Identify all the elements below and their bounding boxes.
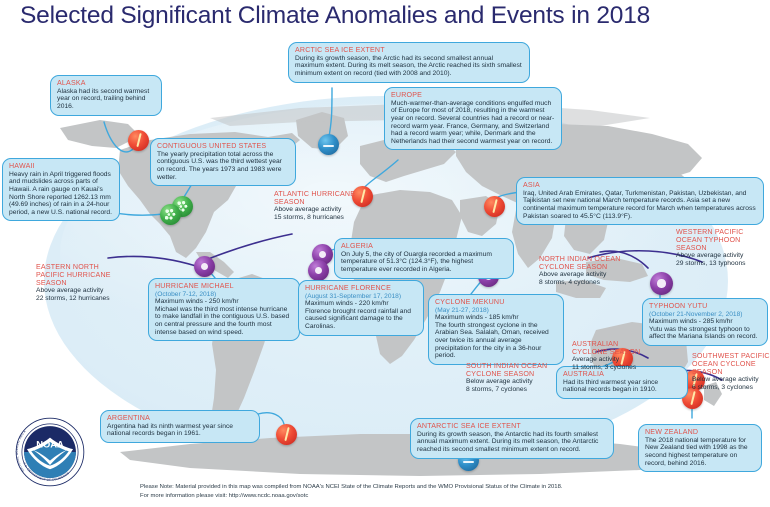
callout-contiguous-us-body: The yearly precipitation total across th… — [157, 151, 289, 182]
enp-season-activity: Above average activity — [36, 287, 128, 295]
callout-europe-body: Much-warmer-than-average conditions engu… — [391, 100, 555, 146]
callout-argentina[interactable]: ARGENTINA Argentina had its ninth warmes… — [100, 410, 260, 443]
marker-alaska-heat-icon — [128, 130, 149, 151]
swp-season-heading: SOUTHWEST PACIFIC OCEAN CYCLONE SEASON — [692, 352, 770, 376]
callout-algeria-heading: ALGERIA — [341, 242, 507, 250]
swp-season-activity: Below average activity — [692, 376, 770, 384]
callout-argentina-body: Argentina had its ninth warmest year sin… — [107, 423, 253, 438]
callout-yutu-heading: TYPHOON YUTU — [649, 302, 761, 310]
atlantic-season-activity: Above average activity — [274, 206, 358, 214]
aus-season-counts: 11 storms, 3 cyclones — [572, 364, 648, 372]
callout-contiguous-united-states[interactable]: CONTIGUOUS UNITED STATES The yearly prec… — [150, 138, 296, 186]
callout-yutu-body: Maximum winds - 285 km/hr Yutu was the s… — [649, 318, 761, 341]
marker-hawaii-precipitation-icon — [160, 204, 181, 225]
atlantic-season-counts: 15 storms, 8 hurricanes — [274, 214, 358, 222]
sio-season-activity: Below average activity — [466, 378, 552, 386]
label-western-pacific-ocean-typhoon-season: WESTERN PACIFIC OCEAN TYPHOON SEASON Abo… — [676, 228, 768, 268]
callout-cyclone-mekunu[interactable]: CYCLONE MEKUNU (May 21-27, 2018) Maximum… — [428, 294, 564, 365]
label-eastern-north-pacific-hurricane-season: EASTERN NORTH PACIFIC HURRICANE SEASON A… — [36, 263, 128, 303]
callout-algeria[interactable]: ALGERIA On July 5, the city of Ouargla r… — [334, 238, 514, 279]
callout-michael-date: (October 7-12, 2018) — [155, 291, 293, 299]
swp-season-counts: 6 storms, 3 cyclones — [692, 384, 770, 392]
wpo-season-activity: Above average activity — [676, 252, 768, 260]
callout-mekunu-date: (May 21-27, 2018) — [435, 307, 557, 315]
nio-season-heading: NORTH INDIAN OCEAN CYCLONE SEASON — [539, 255, 621, 271]
callout-alaska-heading: ALASKA — [57, 79, 155, 87]
enp-season-counts: 22 storms, 12 hurricanes — [36, 295, 128, 303]
callout-arctic-heading: ARCTIC SEA ICE EXTENT — [295, 46, 523, 54]
marker-hurricane-michael-icon — [194, 256, 215, 277]
callout-europe[interactable]: EUROPE Much-warmer-than-average conditio… — [384, 87, 562, 150]
callout-florence-heading: HURRICANE FLORENCE — [305, 284, 417, 292]
atlantic-season-heading: ATLANTIC HURRICANE SEASON — [274, 190, 358, 206]
footer-note: Please Note: Material provided in this m… — [140, 483, 760, 501]
callout-asia-body: Iraq, United Arab Emirates, Qatar, Turkm… — [523, 190, 757, 221]
callout-asia[interactable]: ASIA Iraq, United Arab Emirates, Qatar, … — [516, 177, 764, 225]
callout-mekunu-heading: CYCLONE MEKUNU — [435, 298, 557, 306]
callout-michael-heading: HURRICANE MICHAEL — [155, 282, 293, 290]
marker-typhoon-yutu-icon — [650, 272, 673, 295]
label-south-indian-ocean-cyclone-season: SOUTH INDIAN OCEAN CYCLONE SEASON Below … — [466, 362, 552, 394]
callout-algeria-body: On July 5, the city of Ouargla recorded … — [341, 251, 507, 274]
marker-arctic-sea-ice-icon — [318, 134, 339, 155]
footer-link[interactable]: For more information please visit: http:… — [140, 492, 760, 501]
callout-australia-body: Had its third warmest year since nationa… — [563, 379, 681, 394]
callout-new-zealand[interactable]: NEW ZEALAND The 2018 national temperatur… — [638, 424, 762, 472]
enp-season-heading: EASTERN NORTH PACIFIC HURRICANE SEASON — [36, 263, 128, 287]
callout-alaska[interactable]: ALASKA Alaska had its second warmest yea… — [50, 75, 162, 116]
callout-florence-body: Maximum winds - 220 km/hr Florence broug… — [305, 300, 417, 331]
marker-asia-heat-icon — [484, 196, 505, 217]
callout-alaska-body: Alaska had its second warmest year on re… — [57, 88, 155, 111]
callout-hawaii-body: Heavy rain in April triggered floods and… — [9, 171, 113, 217]
page-title: Selected Significant Climate Anomalies a… — [20, 2, 750, 30]
callout-contiguous-us-heading: CONTIGUOUS UNITED STATES — [157, 142, 289, 150]
callout-typhoon-yutu[interactable]: TYPHOON YUTU (October 21-November 2, 201… — [642, 298, 768, 346]
aus-season-activity: Average activity — [572, 356, 648, 364]
callout-arctic-sea-ice-extent[interactable]: ARCTIC SEA ICE EXTENT During its growth … — [288, 42, 530, 83]
callout-hurricane-michael[interactable]: HURRICANE MICHAEL (October 7-12, 2018) M… — [148, 278, 300, 341]
callout-michael-body: Maximum winds - 250 km/hr Michael was th… — [155, 298, 293, 336]
wpo-season-heading: WESTERN PACIFIC OCEAN TYPHOON SEASON — [676, 228, 768, 252]
callout-antarctic-body: During its growth season, the Antarctic … — [417, 431, 607, 454]
footer-source-note: Please Note: Material provided in this m… — [140, 483, 760, 492]
callout-antarctic-heading: ANTARCTIC SEA ICE EXTENT — [417, 422, 607, 430]
label-north-indian-ocean-cyclone-season: NORTH INDIAN OCEAN CYCLONE SEASON Above … — [539, 255, 621, 287]
nio-season-counts: 8 storms, 4 cyclones — [539, 279, 621, 287]
noaa-wordmark: NOAA — [36, 440, 64, 450]
label-atlantic-hurricane-season: ATLANTIC HURRICANE SEASON Above average … — [274, 190, 358, 222]
callout-new-zealand-heading: NEW ZEALAND — [645, 428, 755, 436]
marker-hurricane-florence-icon — [308, 260, 329, 281]
callout-yutu-date: (October 21-November 2, 2018) — [649, 311, 761, 319]
marker-argentina-heat-icon — [276, 424, 297, 445]
callout-asia-heading: ASIA — [523, 181, 757, 189]
sio-season-heading: SOUTH INDIAN OCEAN CYCLONE SEASON — [466, 362, 552, 378]
callout-antarctic-sea-ice-extent[interactable]: ANTARCTIC SEA ICE EXTENT During its grow… — [410, 418, 614, 459]
label-southwest-pacific-ocean-cyclone-season: SOUTHWEST PACIFIC OCEAN CYCLONE SEASON B… — [692, 352, 770, 392]
callout-new-zealand-body: The 2018 national temperature for New Ze… — [645, 437, 755, 468]
infographic-canvas: Selected Significant Climate Anomalies a… — [0, 0, 770, 507]
callout-europe-heading: EUROPE — [391, 91, 555, 99]
sio-season-counts: 8 storms, 7 cyclones — [466, 386, 552, 394]
noaa-logo: NOAA NATIONAL OCEANIC AND ATMOSPHERIC U.… — [14, 416, 86, 488]
callout-hawaii-heading: HAWAII — [9, 162, 113, 170]
callout-florence-date: (August 31-September 17, 2018) — [305, 293, 417, 301]
wpo-season-counts: 29 storms, 13 typhoons — [676, 260, 768, 268]
label-australian-cyclone-season: AUSTRALIAN CYCLONE SEASON Average activi… — [572, 340, 648, 372]
callout-mekunu-body: Maximum winds - 185 km/hr The fourth str… — [435, 314, 557, 360]
callout-hawaii[interactable]: HAWAII Heavy rain in April triggered flo… — [2, 158, 120, 221]
callout-hurricane-florence[interactable]: HURRICANE FLORENCE (August 31-September … — [298, 280, 424, 336]
aus-season-heading: AUSTRALIAN CYCLONE SEASON — [572, 340, 648, 356]
callout-argentina-heading: ARGENTINA — [107, 414, 253, 422]
callout-arctic-body: During its growth season, the Arctic had… — [295, 55, 523, 78]
nio-season-activity: Above average activity — [539, 271, 621, 279]
